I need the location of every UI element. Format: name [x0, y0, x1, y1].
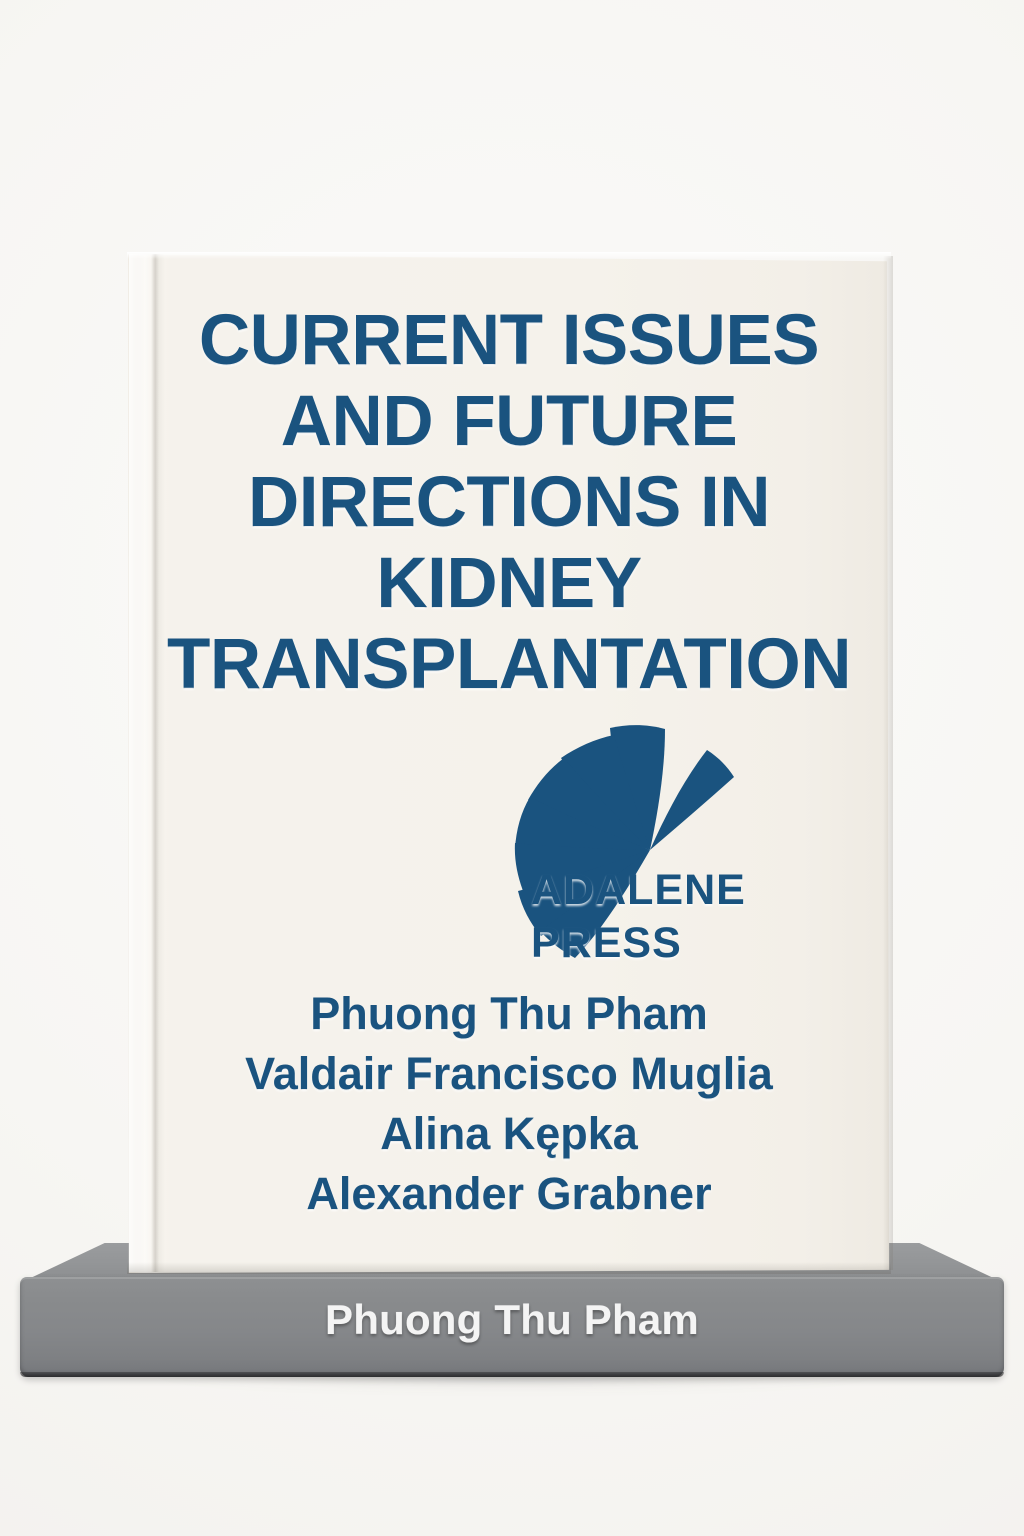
- book-cover-scene: Phuong Thu Pham CURRENT ISSUES AND FUTUR…: [0, 0, 1024, 1536]
- author-list: Phuong Thu Pham Valdair Francisco Muglia…: [125, 984, 893, 1224]
- title-line-5: TRANSPLANTATION: [125, 624, 893, 705]
- author-1: Phuong Thu Pham: [125, 984, 893, 1044]
- title-line-4: KIDNEY: [125, 543, 893, 624]
- publisher-name-line-1: ADALENE: [531, 864, 861, 917]
- cover-content: CURRENT ISSUES AND FUTURE DIRECTIONS IN …: [125, 252, 893, 1274]
- book[interactable]: CURRENT ISSUES AND FUTURE DIRECTIONS IN …: [125, 252, 893, 1274]
- pedestal-label: Phuong Thu Pham: [0, 1296, 1024, 1344]
- title-line-3: DIRECTIONS IN: [125, 462, 893, 543]
- title-line-1: CURRENT ISSUES: [125, 300, 893, 381]
- publisher-name-line-2: PRESS: [531, 917, 861, 970]
- author-2: Valdair Francisco Muglia: [125, 1044, 893, 1104]
- author-3: Alina Kępka: [125, 1104, 893, 1164]
- author-4: Alexander Grabner: [125, 1164, 893, 1224]
- publisher-name: ADALENE PRESS: [531, 864, 861, 970]
- book-title: CURRENT ISSUES AND FUTURE DIRECTIONS IN …: [125, 300, 893, 705]
- title-line-2: AND FUTURE: [125, 381, 893, 462]
